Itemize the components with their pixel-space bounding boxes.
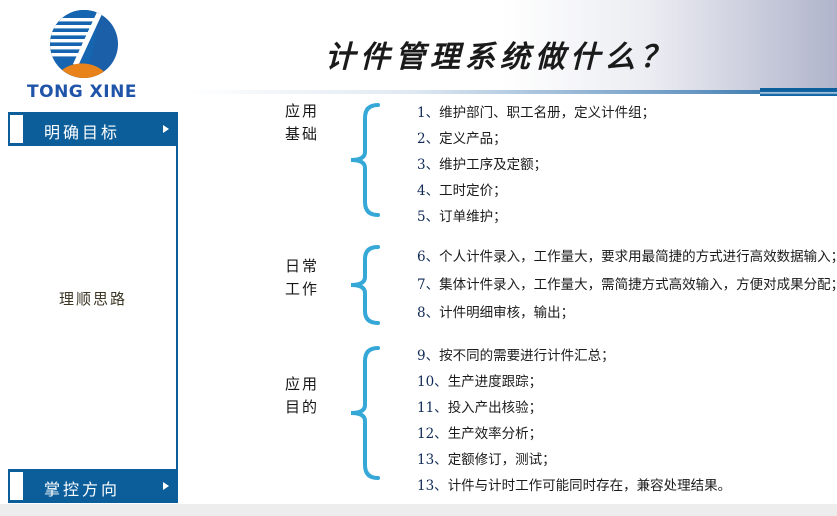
header-divider-rule-accent <box>760 88 837 96</box>
tongxine-globe-logo-icon <box>48 8 120 80</box>
group-label-line1: 日常 <box>265 255 339 278</box>
group-items: 6、个人计件录入，工作量大，要求用最简捷的方式进行高效数据输入； 7、集体计件录… <box>417 243 837 327</box>
item-number: 10、 <box>417 374 448 390</box>
group-items: 1、维护部门、职工名册，定义计件组； 2、定义产品； 3、维护工序及定额； 4、… <box>417 100 655 230</box>
sidebar-item-thinking[interactable]: 理顺思路 <box>8 288 178 309</box>
item-text: 计件明细审核，输出； <box>439 305 574 321</box>
sidebar-item-label: 掌控方向 <box>44 476 120 500</box>
logo-text: TONG XINE <box>22 82 142 102</box>
list-item: 12、生产效率分析； <box>417 421 731 447</box>
sidebar-item-goal[interactable]: 明确目标 <box>8 112 178 146</box>
item-number: 1、 <box>417 105 439 121</box>
sidebar-item-direction[interactable]: 掌控方向 <box>8 469 178 503</box>
item-number: 11、 <box>417 400 448 416</box>
item-text: 工时定价； <box>439 183 507 199</box>
list-item: 7、集体计件录入，工作量大，需简捷方式高效输入，方便对成果分配； <box>417 271 837 299</box>
list-item: 3、维护工序及定额； <box>417 152 655 178</box>
list-item: 9、按不同的需要进行计件汇总； <box>417 343 731 369</box>
list-item: 8、计件明细审核，输出； <box>417 299 837 327</box>
curly-brace-icon <box>345 100 385 220</box>
group-label-line2: 基础 <box>265 123 339 146</box>
item-number: 7、 <box>417 277 439 293</box>
slide-canvas: 计件管理系统做什么？ <box>0 0 837 504</box>
group-label-line2: 目的 <box>265 396 339 419</box>
list-item: 10、生产进度跟踪； <box>417 369 731 395</box>
item-number: 13、 <box>417 478 448 494</box>
nav-notch-decoration <box>10 115 23 143</box>
list-item: 13、计件与计时工作可能同时存在，兼容处理结果。 <box>417 473 731 499</box>
group-label-line1: 应用 <box>265 100 339 123</box>
item-text: 集体计件录入，工作量大，需简捷方式高效输入，方便对成果分配； <box>439 277 837 293</box>
bottom-band <box>0 504 837 516</box>
list-item: 5、订单维护； <box>417 204 655 230</box>
triangle-right-icon <box>163 125 169 133</box>
list-item: 1、维护部门、职工名册，定义计件组； <box>417 100 655 126</box>
group-label: 应用 基础 <box>265 100 339 146</box>
sidebar-item-label: 理顺思路 <box>59 290 127 308</box>
item-number: 6、 <box>417 249 439 265</box>
item-text: 维护部门、职工名册，定义计件组； <box>439 105 655 121</box>
logo: TONG XINE <box>22 8 142 106</box>
group-label: 应用 目的 <box>265 373 339 419</box>
item-text: 个人计件录入，工作量大，要求用最简捷的方式进行高效数据输入； <box>439 249 837 265</box>
item-number: 3、 <box>417 157 439 173</box>
group-label: 日常 工作 <box>265 255 339 301</box>
item-text: 定义产品； <box>439 131 507 147</box>
item-text: 维护工序及定额； <box>439 157 547 173</box>
item-text: 定额修订，测试； <box>448 452 556 468</box>
list-item: 13、定额修订，测试； <box>417 447 731 473</box>
item-text: 生产进度跟踪； <box>448 374 543 390</box>
item-number: 2、 <box>417 131 439 147</box>
triangle-right-icon <box>163 482 169 490</box>
item-text: 订单维护； <box>439 209 507 225</box>
list-item: 4、工时定价； <box>417 178 655 204</box>
item-number: 9、 <box>417 348 439 364</box>
item-text: 生产效率分析； <box>448 426 543 442</box>
curly-brace-icon <box>345 243 385 327</box>
sidebar-item-label: 明确目标 <box>44 119 120 143</box>
page-title: 计件管理系统做什么？ <box>200 32 800 76</box>
group-label-line1: 应用 <box>265 373 339 396</box>
group-label-line2: 工作 <box>265 278 339 301</box>
list-item: 2、定义产品； <box>417 126 655 152</box>
curly-brace-icon <box>345 343 385 483</box>
item-number: 8、 <box>417 305 439 321</box>
nav-notch-decoration <box>10 472 23 500</box>
item-text: 计件与计时工作可能同时存在，兼容处理结果。 <box>448 478 732 494</box>
item-number: 5、 <box>417 209 439 225</box>
list-item: 11、投入产出核验； <box>417 395 731 421</box>
item-text: 投入产出核验； <box>448 400 543 416</box>
list-item: 6、个人计件录入，工作量大，要求用最简捷的方式进行高效数据输入； <box>417 243 837 271</box>
header-divider-rule <box>185 90 837 94</box>
item-text: 按不同的需要进行计件汇总； <box>439 348 615 364</box>
item-number: 4、 <box>417 183 439 199</box>
group-items: 9、按不同的需要进行计件汇总； 10、生产进度跟踪； 11、投入产出核验； 12… <box>417 343 731 499</box>
item-number: 13、 <box>417 452 448 468</box>
item-number: 12、 <box>417 426 448 442</box>
